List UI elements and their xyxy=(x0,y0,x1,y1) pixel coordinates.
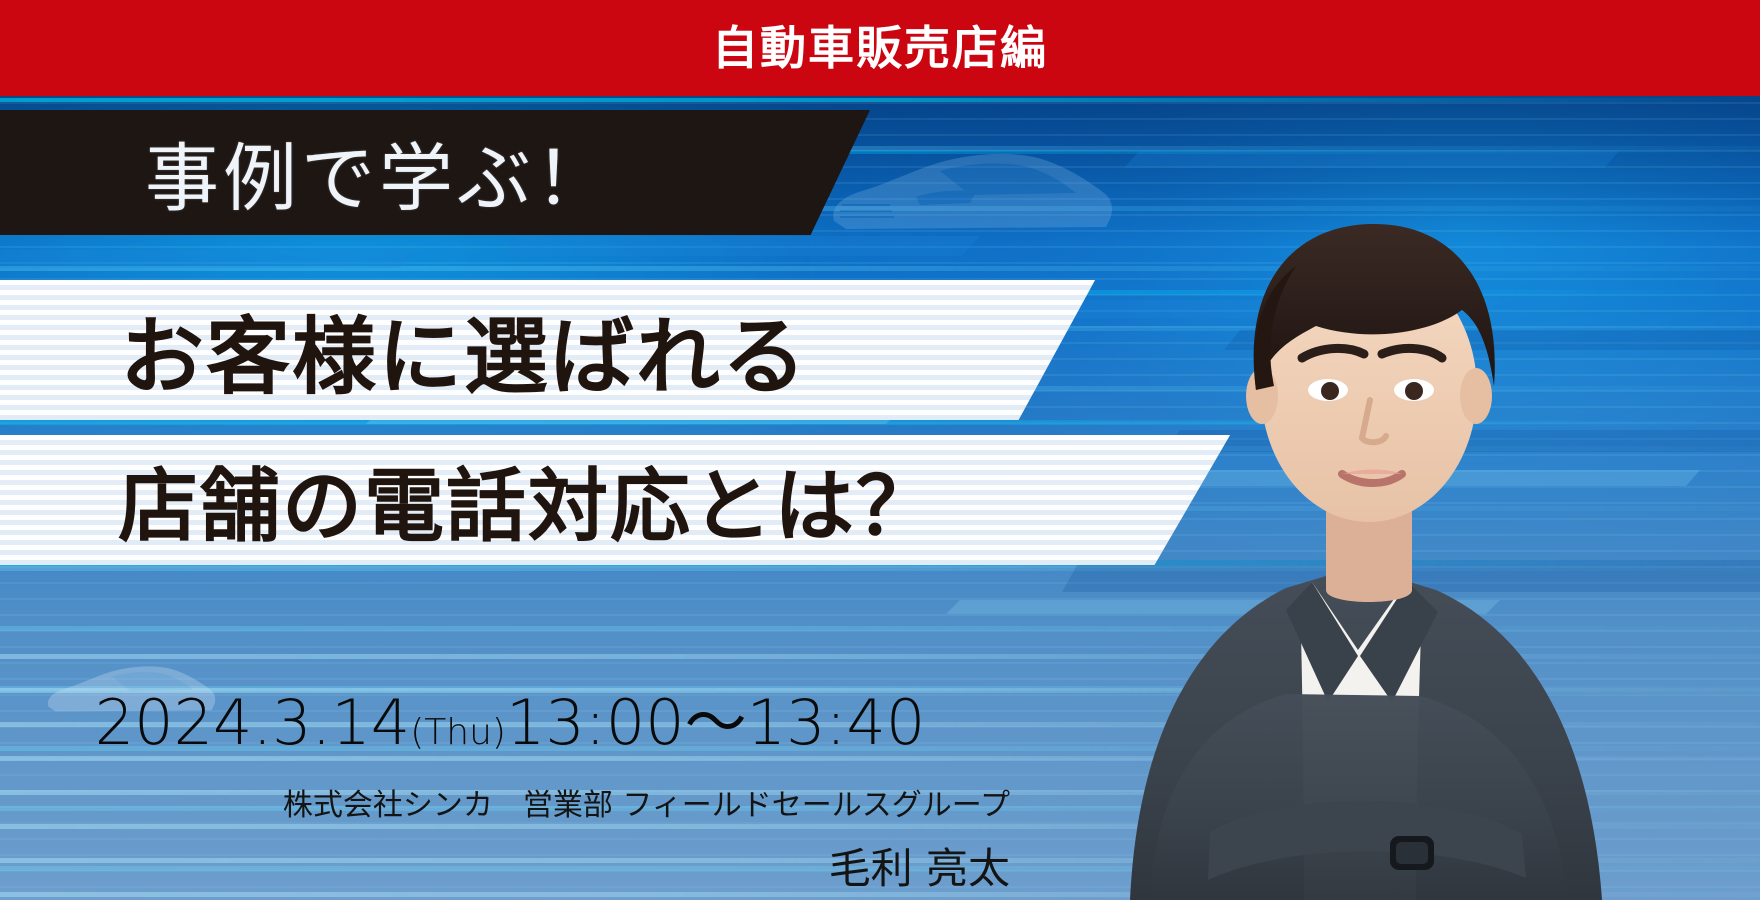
category-label: 自動車販売店編 xyxy=(712,25,1048,71)
schedule-line: 2024.3.14(Thu)13:00〜13:40 xyxy=(0,692,1020,754)
presenter-organization: 株式会社シンカ 営業部 フィールドセールスグループ xyxy=(0,780,1010,824)
schedule-date: 2024.3.14 xyxy=(95,686,411,759)
title-line1: お客様に選ばれる xyxy=(120,290,808,411)
title-line2: 店舗の電話対応とは？ xyxy=(118,442,938,558)
title-line2-band: 店舗の電話対応とは？ xyxy=(0,435,1230,565)
title-kicker: 事例で学ぶ！ xyxy=(145,119,613,226)
webinar-banner: 自動車販売店編 事例で学ぶ！ お客様に選ばれる 店舗の電話対応とは？ 2024.… xyxy=(0,0,1760,900)
title-line1-band: お客様に選ばれる xyxy=(0,280,1095,420)
presenter-name: 毛利 亮太 xyxy=(0,835,1010,896)
car-silhouette-icon xyxy=(820,135,1120,255)
category-banner: 自動車販売店編 xyxy=(0,0,1760,96)
schedule-day-of-week: (Thu) xyxy=(410,712,506,753)
title-kicker-band: 事例で学ぶ！ xyxy=(0,110,870,235)
schedule-time-range: 13:00〜13:40 xyxy=(506,686,925,759)
